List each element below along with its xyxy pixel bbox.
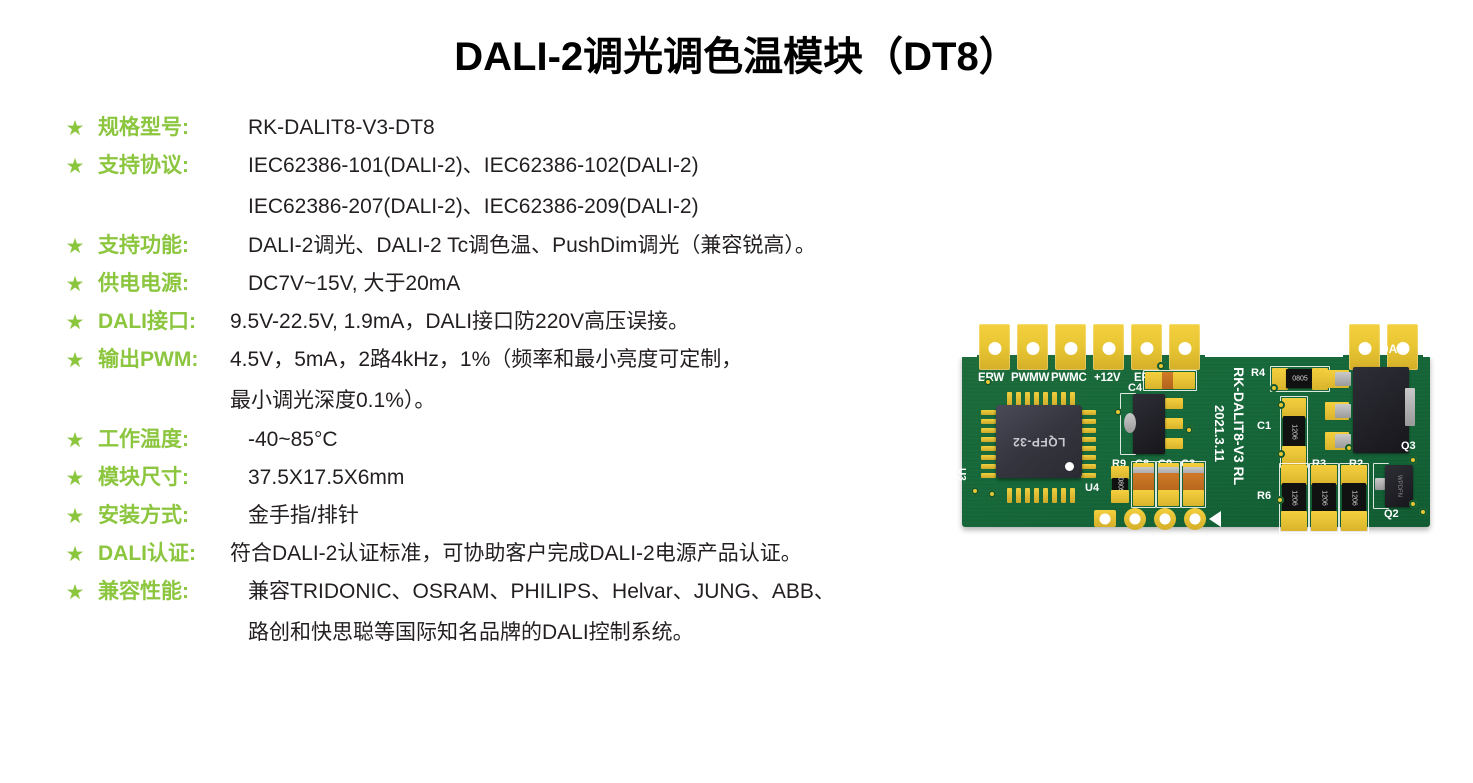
spec-label-power-supply: 供电电源: <box>98 269 248 299</box>
spec-label-dali-certification: DALI认证: <box>98 539 230 569</box>
spec-value-power-supply: DC7V~15V, 大于20mA <box>248 269 962 299</box>
pcb-ic-lqfp32: LQFP-32 <box>996 405 1082 478</box>
spec-value-dali-interface: 9.5V-22.5V, 1.9mA，DALI接口防220V高压误接。 <box>230 307 962 337</box>
spec-value-pwm-output-line1: 4.5V，5mA，2路4kHz，1%（频率和最小亮度可定制， <box>230 348 742 371</box>
pcb-designator-q2: Q2 <box>1384 508 1399 520</box>
spec-row-module-size: ★ 模块尺寸: 37.5X17.5X6mm <box>62 463 962 493</box>
spec-value-compatibility: 兼容TRIDONIC、OSRAM、PHILIPS、Helvar、JUNG、ABB… <box>248 577 962 648</box>
spec-value-dali-certification: 符合DALI-2认证标准，可协助客户完成DALI-2电源产品认证。 <box>230 539 962 569</box>
pcb-silkscreen-date: 2021.3.11 <box>1212 405 1227 462</box>
pcb-label-pwmc: PWMC <box>1051 372 1087 384</box>
pcb-ic-marking: LQFP-32 <box>996 435 1082 449</box>
pcb-designator-u3: U3 <box>956 468 967 481</box>
star-bullet-icon: ★ <box>62 116 88 142</box>
pcb-designator-q3: Q3 <box>1401 440 1416 452</box>
pcb-pad-dali-a <box>1349 324 1380 370</box>
pcb-pad-erw <box>979 324 1010 370</box>
spec-value-functions: DALI-2调光、DALI-2 Tc调色温、PushDim调光（兼容锐高）。 <box>248 231 962 261</box>
pcb-label-da: DA <box>1380 342 1397 356</box>
spec-value-protocols-line1: IEC62386-101(DALI-2)、IEC62386-102(DALI-2… <box>248 154 699 177</box>
pcb-designator-r4: R4 <box>1251 367 1265 379</box>
spec-label-protocols: 支持协议: <box>98 151 248 181</box>
spec-value-module-size: 37.5X17.5X6mm <box>248 463 962 493</box>
pcb-edge-notch-right <box>1423 310 1439 357</box>
pcb-orientation-triangle-icon <box>1209 511 1221 527</box>
spec-row-protocols: ★ 支持协议: IEC62386-101(DALI-2)、IEC62386-10… <box>62 151 962 222</box>
spec-row-operating-temperature: ★ 工作温度: -40~85°C <box>62 425 962 455</box>
star-bullet-icon: ★ <box>62 310 88 336</box>
star-bullet-icon: ★ <box>62 154 88 180</box>
product-spec-sheet: DALI-2调光调色温模块（DT8） ★ 规格型号: RK-DALIT8-V3-… <box>0 0 1473 783</box>
spec-label-module-size: 模块尺寸: <box>98 463 248 493</box>
spec-value-compatibility-line2: 路创和快思聪等国际知名品牌的DALI控制系统。 <box>248 618 962 648</box>
spec-value-protocols: IEC62386-101(DALI-2)、IEC62386-102(DALI-2… <box>248 151 962 222</box>
star-bullet-icon: ★ <box>62 504 88 530</box>
spec-value-compatibility-line1: 兼容TRIDONIC、OSRAM、PHILIPS、Helvar、JUNG、ABB… <box>248 580 835 603</box>
pcb-designator-c1: C1 <box>1257 420 1271 432</box>
spec-row-compatibility: ★ 兼容性能: 兼容TRIDONIC、OSRAM、PHILIPS、Helvar、… <box>62 577 962 648</box>
pcb-edge-notch <box>1205 310 1343 357</box>
pcb-pad-pwmw <box>1017 324 1048 370</box>
star-bullet-icon: ★ <box>62 428 88 454</box>
spec-label-pwm-output: 输出PWM: <box>98 345 230 375</box>
star-bullet-icon: ★ <box>62 466 88 492</box>
pcb-designator-r6: R6 <box>1257 490 1271 502</box>
spec-value-mounting: 金手指/排针 <box>248 501 962 531</box>
spec-row-pwm-output: ★ 输出PWM: 4.5V，5mA，2路4kHz，1%（频率和最小亮度可定制， … <box>62 345 962 416</box>
pcb-bottom-pad-1 <box>1094 510 1116 527</box>
spec-row-dali-interface: ★ DALI接口: 9.5V-22.5V, 1.9mA，DALI接口防220V高… <box>62 307 962 337</box>
pcb-label-pwmw: PWMW <box>1011 372 1049 384</box>
star-bullet-icon: ★ <box>62 542 88 568</box>
spec-value-model: RK-DALIT8-V3-DT8 <box>248 113 962 143</box>
spec-row-model: ★ 规格型号: RK-DALIT8-V3-DT8 <box>62 113 962 143</box>
pcb-label-12v: +12V <box>1094 372 1120 384</box>
pcb-regulator <box>1133 394 1165 454</box>
pcb-edge-notch-left <box>957 310 977 357</box>
star-bullet-icon: ★ <box>62 234 88 260</box>
spec-row-dali-certification: ★ DALI认证: 符合DALI-2认证标准，可协助客户完成DALI-2电源产品… <box>62 539 962 569</box>
pcb-bottom-pad-3 <box>1154 508 1176 530</box>
spec-value-pwm-output: 4.5V，5mA，2路4kHz，1%（频率和最小亮度可定制， 最小调光深度0.1… <box>230 345 962 416</box>
star-bullet-icon: ★ <box>62 348 88 374</box>
spec-value-protocols-line2: IEC62386-207(DALI-2)、IEC62386-209(DALI-2… <box>248 192 962 222</box>
pcb-bottom-pad-2 <box>1124 508 1146 530</box>
pcb-pad-12v <box>1093 324 1124 370</box>
pcb-designator-u4: U4 <box>1085 482 1099 494</box>
spec-label-operating-temperature: 工作温度: <box>98 425 248 455</box>
product-pcb-image: ERW PWMW PWMC +12V ERC GND DA <box>957 310 1437 535</box>
spec-value-operating-temperature: -40~85°C <box>248 425 962 455</box>
star-bullet-icon: ★ <box>62 580 88 606</box>
spec-value-pwm-output-line2: 最小调光深度0.1%）。 <box>230 386 962 416</box>
pcb-bottom-pad-4 <box>1184 508 1206 530</box>
spec-label-functions: 支持功能: <box>98 231 248 261</box>
pcb-ic-pin1-dot <box>1065 462 1074 471</box>
pcb-pad-gnd <box>1169 324 1200 370</box>
spec-label-model: 规格型号: <box>98 113 248 143</box>
spec-label-compatibility: 兼容性能: <box>98 577 248 607</box>
spec-row-functions: ★ 支持功能: DALI-2调光、DALI-2 Tc调色温、PushDim调光（… <box>62 231 962 261</box>
pcb-pad-pwmc <box>1055 324 1086 370</box>
page-title: DALI-2调光调色温模块（DT8） <box>0 24 1473 82</box>
spec-label-mounting: 安装方式: <box>98 501 248 531</box>
spec-row-mounting: ★ 安装方式: 金手指/排针 <box>62 501 962 531</box>
star-bullet-icon: ★ <box>62 272 88 298</box>
pcb-silkscreen-part-number: RK-DALIT8-V3 RL <box>1231 367 1247 485</box>
specification-list: ★ 规格型号: RK-DALIT8-V3-DT8 ★ 支持协议: IEC6238… <box>62 113 962 657</box>
spec-label-dali-interface: DALI接口: <box>98 307 230 337</box>
spec-row-power-supply: ★ 供电电源: DC7V~15V, 大于20mA <box>62 269 962 299</box>
